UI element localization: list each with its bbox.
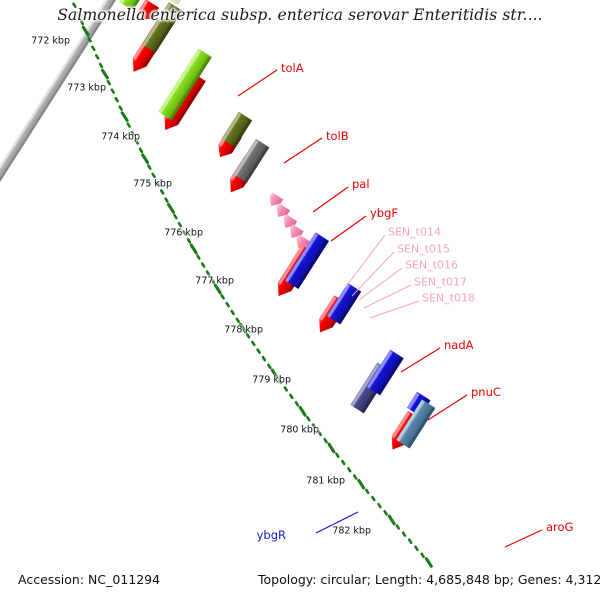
ruler-major-tick [169, 205, 174, 213]
ruler-label: 778 kbp [224, 325, 263, 336]
ruler-minor-tick [403, 533, 405, 536]
gene-label-aroG[interactable]: aroG [546, 520, 573, 534]
ruler-minor-tick [296, 402, 298, 405]
label-leader-line [284, 138, 322, 163]
ruler-minor-tick [263, 357, 265, 360]
gene-label-SEN_t015[interactable]: SEN_t015 [397, 243, 450, 256]
ruler-major-tick [103, 70, 108, 78]
label-leader-line [238, 70, 277, 96]
ruler-minor-tick [237, 319, 239, 322]
label-leader-line [331, 216, 366, 241]
ruler-minor-tick [222, 295, 224, 298]
gene-label-nadA[interactable]: nadA [444, 338, 474, 352]
gene-label-ybgF[interactable]: ybgF [370, 206, 398, 220]
ruler-minor-tick [89, 38, 91, 41]
gene-feature[interactable] [135, 0, 159, 24]
ruler-minor-tick [268, 365, 270, 368]
gene-label-tolA[interactable]: tolA [281, 61, 304, 75]
accession-status: Accession: NC_011294 [18, 572, 160, 587]
ruler-minor-tick [290, 395, 292, 398]
ruler-minor-tick [161, 191, 163, 194]
ruler-minor-tick [307, 417, 309, 420]
ruler-minor-tick [372, 497, 374, 500]
ruler-label: 772 kbp [31, 36, 70, 47]
ruler-minor-tick [148, 166, 150, 169]
ruler-minor-tick [207, 272, 209, 275]
ruler-minor-tick [422, 554, 424, 557]
ruler-major-tick [300, 407, 305, 415]
ruler-label: 777 kbp [195, 276, 234, 287]
gene-body[interactable] [233, 139, 269, 183]
ruler-minor-tick [285, 387, 287, 390]
genome-summary-status: Topology: circular; Length: 4,685,848 bp… [258, 572, 600, 587]
ruler-minor-tick [175, 215, 177, 218]
ruler-minor-tick [81, 21, 83, 24]
label-leader-line [345, 235, 385, 288]
ruler-minor-tick [120, 107, 122, 110]
ruler-minor-tick [198, 256, 200, 259]
ruler-minor-tick [179, 223, 181, 226]
ruler-major-tick [191, 245, 196, 253]
ruler-label: 780 kbp [280, 425, 319, 436]
ruler-minor-tick [153, 174, 155, 177]
ruler-major-tick [359, 480, 364, 488]
label-leader-lines [238, 70, 542, 547]
ruler-minor-tick [166, 199, 168, 202]
genome-map-canvas[interactable]: Salmonella enterica subsp. enterica sero… [0, 0, 600, 600]
ruler-minor-tick [348, 468, 350, 471]
gene-label-SEN_t016[interactable]: SEN_t016 [405, 259, 458, 272]
ruler-minor-tick [73, 4, 75, 7]
label-leader-line [313, 187, 348, 212]
label-leader-line [370, 301, 419, 318]
ruler-minor-tick [258, 350, 260, 353]
ruler-minor-tick [100, 64, 102, 67]
ruler-minor-tick [128, 124, 130, 127]
ruler-minor-tick [409, 540, 411, 543]
ruler-minor-tick [232, 311, 234, 314]
gene-label-SEN_t014[interactable]: SEN_t014 [388, 226, 441, 239]
ruler-minor-tick [342, 461, 344, 464]
ruler-minor-tick [140, 149, 142, 152]
ruler-major-tick [143, 155, 148, 163]
ruler-minor-tick [96, 55, 98, 58]
gene-label-SEN_t018[interactable]: SEN_t018 [422, 292, 475, 305]
ruler-major-tick [122, 113, 127, 121]
ruler-minor-tick [112, 90, 114, 93]
label-leader-line [401, 348, 440, 372]
ruler-minor-tick [108, 81, 110, 84]
ruler-minor-tick [415, 547, 417, 550]
ruler-minor-tick [188, 240, 190, 243]
ruler-minor-tick [397, 526, 399, 529]
ruler-tick-arc [61, 0, 432, 566]
ruler-label: 775 kbp [133, 179, 172, 190]
gene-label-SEN_t017[interactable]: SEN_t017 [414, 276, 467, 289]
label-leader-line [364, 285, 411, 308]
ruler-label: 782 kbp [332, 526, 371, 537]
ruler-label: 779 kbp [252, 375, 291, 386]
ruler-major-tick [426, 559, 431, 567]
label-leader-line [359, 268, 402, 300]
ruler-label: 773 kbp [67, 83, 106, 94]
gene-label-pal[interactable]: pal [352, 177, 370, 191]
ruler-minor-tick [116, 98, 118, 101]
gene-label-tolB[interactable]: tolB [326, 129, 349, 143]
gene-label-ybgR[interactable]: ybgR [257, 528, 286, 542]
ruler-minor-tick [77, 12, 79, 15]
ruler-minor-tick [366, 490, 368, 493]
ruler-major-tick [389, 516, 394, 524]
ruler-label: 781 kbp [306, 476, 345, 487]
ruler-minor-tick [92, 47, 94, 50]
ruler-minor-tick [379, 504, 381, 507]
ruler-minor-tick [385, 511, 387, 514]
ruler-minor-tick [252, 342, 254, 345]
gene-label-pnuC[interactable]: pnuC [471, 385, 501, 399]
ruler-minor-tick [202, 264, 204, 267]
gene-feature[interactable] [233, 139, 269, 183]
trna-feature-layer[interactable] [266, 192, 310, 251]
ruler-minor-tick [325, 439, 327, 442]
ruler-label: 774 kbp [101, 132, 140, 143]
label-leader-line [505, 530, 542, 547]
ruler-label: 776 kbp [164, 228, 203, 239]
ruler-minor-tick [227, 303, 229, 306]
ruler-minor-tick [354, 476, 356, 479]
ruler-minor-tick [336, 454, 338, 457]
ruler-major-tick [329, 444, 334, 452]
